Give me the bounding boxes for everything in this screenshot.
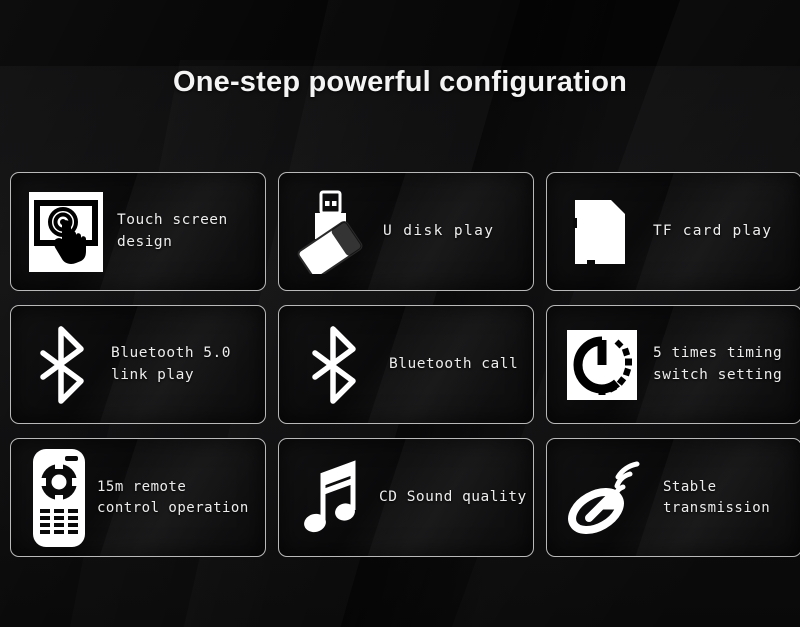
remote-control-icon bbox=[33, 449, 85, 547]
feature-label: TF card play bbox=[653, 221, 772, 243]
feature-card-timing-switch-setting[interactable]: 5 times timing switch setting bbox=[546, 305, 800, 424]
bluetooth-icon bbox=[33, 325, 89, 405]
feature-label: 15m remote control operation bbox=[97, 477, 249, 519]
feature-card-bluetooth-link-play[interactable]: Bluetooth 5.0 link play bbox=[10, 305, 266, 424]
touch-screen-icon bbox=[29, 192, 103, 272]
feature-label: Bluetooth call bbox=[389, 354, 518, 376]
usb-flash-drive-icon bbox=[295, 190, 365, 274]
feature-card-remote-control-operation[interactable]: 15m remote control operation bbox=[10, 438, 266, 557]
feature-grid: Touch screen design U disk play bbox=[10, 172, 792, 557]
feature-card-cd-sound-quality[interactable]: CD Sound quality bbox=[278, 438, 534, 557]
feature-label: U disk play bbox=[383, 221, 494, 243]
power-timer-icon bbox=[567, 330, 637, 400]
feature-card-tf-card-play[interactable]: TF card play bbox=[546, 172, 800, 291]
feature-label: Stable transmission bbox=[663, 477, 770, 519]
music-note-icon bbox=[303, 459, 365, 537]
tf-card-icon bbox=[573, 196, 627, 268]
feature-card-stable-transmission[interactable]: Stable transmission bbox=[546, 438, 800, 557]
feature-card-touch-screen-design[interactable]: Touch screen design bbox=[10, 172, 266, 291]
feature-label: Touch screen design bbox=[117, 210, 228, 254]
feature-card-bluetooth-call[interactable]: Bluetooth call bbox=[278, 305, 534, 424]
feature-label: Bluetooth 5.0 link play bbox=[111, 343, 231, 387]
page-title: One-step powerful configuration bbox=[0, 66, 800, 99]
feature-label: CD Sound quality bbox=[379, 487, 527, 509]
feature-label: 5 times timing switch setting bbox=[653, 343, 782, 387]
feature-poster: One-step powerful configuration Touch sc… bbox=[0, 0, 800, 627]
bluetooth-icon bbox=[305, 325, 361, 405]
satellite-dish-icon bbox=[565, 461, 645, 535]
feature-card-u-disk-play[interactable]: U disk play bbox=[278, 172, 534, 291]
